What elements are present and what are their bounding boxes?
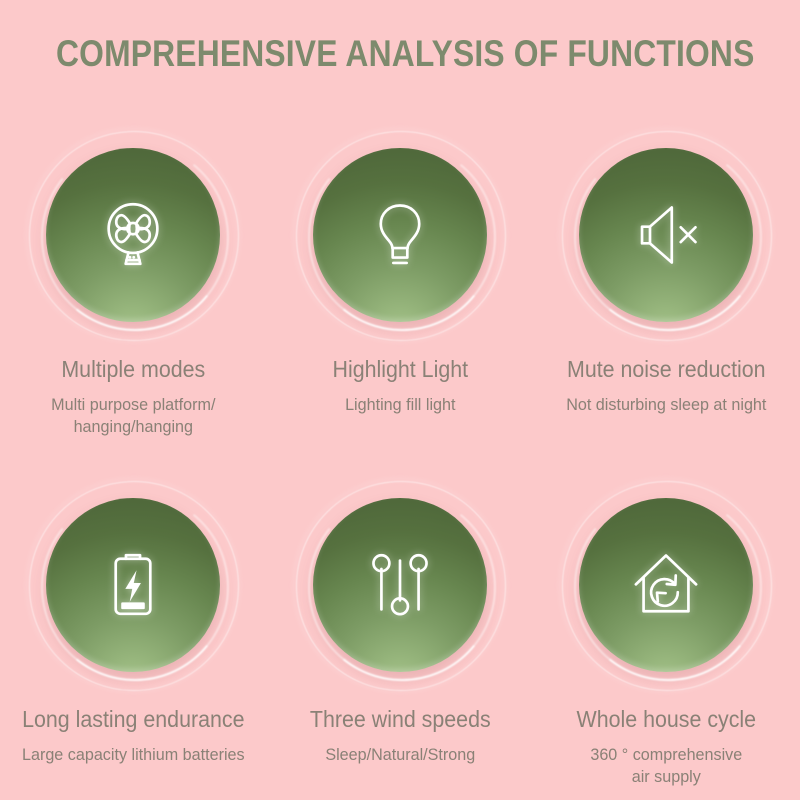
feature-disc — [313, 148, 487, 322]
feature-grid: Multiple modes Multi purpose platform/ h… — [0, 128, 800, 800]
feature-subtitle: Large capacity lithium batteries — [10, 744, 256, 765]
feature-title: Long lasting endurance — [13, 706, 253, 732]
feature-card-long-lasting-endurance[interactable]: Long lasting endurance Large capacity li… — [0, 478, 267, 800]
feature-badge[interactable] — [559, 128, 773, 342]
feature-disc — [46, 498, 220, 672]
sliders-icon — [359, 544, 441, 626]
feature-subtitle: Sleep/Natural/Strong — [277, 744, 523, 765]
feature-subtitle: Lighting fill light — [277, 394, 523, 415]
feature-card-mute-noise-reduction[interactable]: Mute noise reduction Not disturbing slee… — [533, 128, 800, 478]
feature-title: Highlight Light — [280, 356, 520, 382]
house-cycle-icon — [625, 544, 707, 626]
feature-overview-page: COMPREHENSIVE ANALYSIS OF FUNCTIONS — [0, 0, 800, 800]
feature-caption: Multiple modes Multi purpose platform/ h… — [0, 342, 267, 437]
feature-subtitle: Multi purpose platform/ hanging/hanging — [10, 394, 256, 437]
feature-title: Whole house cycle — [546, 706, 786, 732]
feature-badge[interactable] — [26, 478, 240, 692]
feature-card-whole-house-cycle[interactable]: Whole house cycle 360 ° comprehensive ai… — [533, 478, 800, 800]
feature-title: Multiple modes — [13, 356, 253, 382]
feature-title: Three wind speeds — [280, 706, 520, 732]
feature-caption: Whole house cycle 360 ° comprehensive ai… — [533, 692, 800, 787]
feature-caption: Mute noise reduction Not disturbing slee… — [533, 342, 800, 416]
mute-speaker-icon — [625, 194, 707, 276]
feature-badge — [293, 478, 507, 692]
feature-card-multiple-modes[interactable]: Multiple modes Multi purpose platform/ h… — [0, 128, 267, 478]
fan-icon — [92, 194, 174, 276]
feature-caption: Highlight Light Lighting fill light — [267, 342, 534, 416]
feature-badge[interactable] — [293, 128, 507, 342]
feature-caption: Long lasting endurance Large capacity li… — [0, 692, 267, 766]
page-title: COMPREHENSIVE ANALYSIS OF FUNCTIONS — [56, 34, 744, 75]
feature-disc — [313, 498, 487, 672]
page-header: COMPREHENSIVE ANALYSIS OF FUNCTIONS — [0, 34, 800, 75]
feature-disc — [46, 148, 220, 322]
feature-badge[interactable] — [26, 128, 240, 342]
feature-card-highlight-light[interactable]: Highlight Light Lighting fill light — [267, 128, 534, 478]
feature-caption: Three wind speeds Sleep/Natural/Strong — [267, 692, 534, 766]
feature-badge[interactable] — [559, 478, 773, 692]
feature-disc — [579, 148, 753, 322]
feature-title: Mute noise reduction — [546, 356, 786, 382]
feature-subtitle: 360 ° comprehensive air supply — [544, 744, 790, 787]
lightbulb-icon — [359, 194, 441, 276]
feature-card-three-wind-speeds[interactable]: Three wind speeds Sleep/Natural/Strong — [267, 478, 534, 800]
battery-charging-icon — [92, 544, 174, 626]
feature-disc — [579, 498, 753, 672]
feature-subtitle: Not disturbing sleep at night — [544, 394, 790, 415]
